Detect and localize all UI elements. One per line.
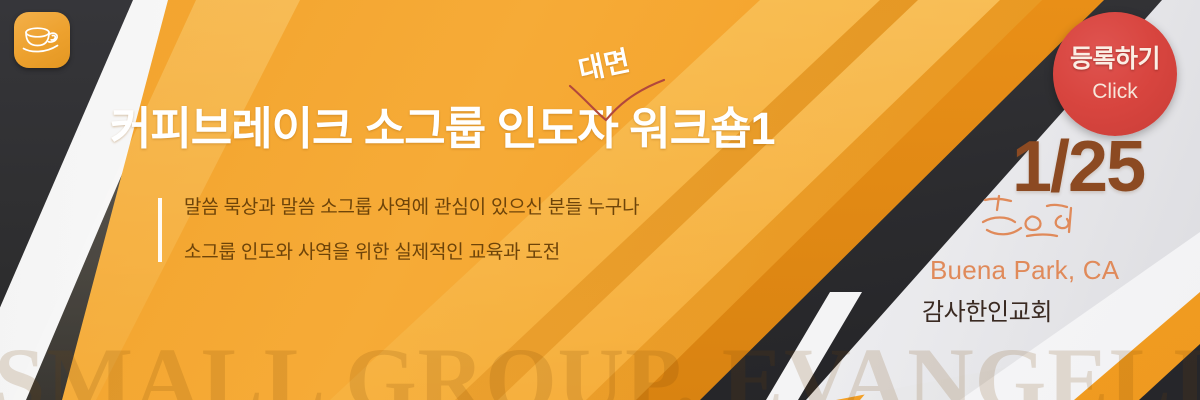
coffee-cup-icon [14,12,70,68]
subtitle-line-1: 말씀 묵상과 말씀 소그룹 사역에 관심이 있으신 분들 누구나 [184,198,639,217]
weekday-script-icon [977,192,1087,248]
register-button-label: 등록하기 [1070,47,1160,72]
event-banner: SMALL GROUP. EVANGELISM 커피브레이크 소그룹 인도자 워… [0,0,1200,400]
register-button-click-label: Click [1092,81,1138,102]
event-city: Buena Park, CA [930,255,1119,286]
subtitle-block: 말씀 묵상과 말씀 소그룹 사역에 관심이 있으신 분들 누구나 소그룹 인도와… [158,198,639,262]
watermark-text: SMALL GROUP. EVANGELISM [0,334,1200,400]
subtitle-line-2: 소그룹 인도와 사역을 위한 실제적인 교육과 도전 [184,243,639,262]
register-button[interactable]: 등록하기 Click [1053,12,1177,136]
event-organization: 감사한인교회 [922,292,1052,327]
